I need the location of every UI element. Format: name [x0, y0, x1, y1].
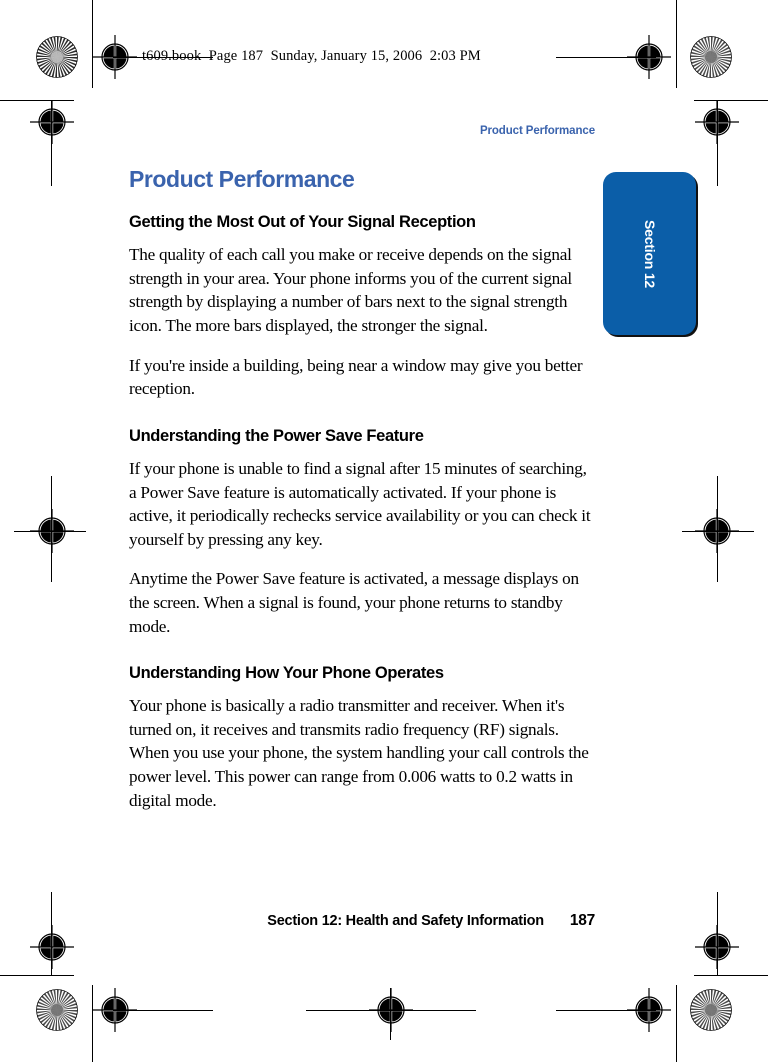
trim-line-vertical-bottom-center	[390, 988, 391, 1040]
starburst-target-top-right	[690, 36, 732, 78]
starburst-target-top-left	[36, 36, 78, 78]
page-title: Product Performance	[129, 167, 595, 191]
paragraph: If you're inside a building, being near …	[129, 354, 595, 401]
registration-mark-bottom-right	[627, 988, 671, 1032]
registration-mark-bottom-center	[369, 988, 413, 1032]
paragraph: If your phone is unable to find a signal…	[129, 457, 595, 551]
page-content: Product Performance Product Performance …	[129, 125, 595, 812]
spacer	[129, 417, 595, 427]
trim-line-vertical-right-upper	[717, 100, 718, 186]
trim-line-horizontal-bottom-left	[113, 1010, 213, 1011]
registration-mark-left-lower	[30, 925, 74, 969]
trim-line-horizontal-left-lower	[0, 975, 74, 976]
starburst-target-bottom-right	[690, 989, 732, 1031]
page-footer: Section 12: Health and Safety Informatio…	[129, 912, 595, 930]
section-heading-phone-operates: Understanding How Your Phone Operates	[129, 664, 595, 682]
paragraph: Your phone is basically a radio transmit…	[129, 694, 595, 812]
registration-mark-top-left	[93, 35, 137, 79]
trim-line-vertical-left-middle	[51, 476, 52, 582]
trim-line-horizontal-right-upper	[694, 100, 768, 101]
registration-mark-left-middle	[30, 509, 74, 553]
page-stamp: t609.book Page 187 Sunday, January 15, 2…	[142, 48, 481, 65]
trim-line-vertical-bottom-right	[676, 985, 677, 1062]
trim-line-vertical-right-lower	[717, 892, 718, 976]
footer-section-title: Section 12: Health and Safety Informatio…	[267, 913, 544, 929]
footer-page-number: 187	[570, 912, 595, 930]
trim-line-vertical-top-right	[676, 0, 677, 88]
trim-line-vertical-bottom-left	[92, 985, 93, 1062]
registration-mark-right-lower	[695, 925, 739, 969]
trim-line-vertical-left-upper	[51, 100, 52, 186]
registration-mark-bottom-left	[93, 988, 137, 1032]
paragraph: The quality of each call you make or rec…	[129, 243, 595, 337]
trim-line-horizontal-bottom-center	[306, 1010, 476, 1011]
section-heading-power-save: Understanding the Power Save Feature	[129, 427, 595, 445]
trim-line-horizontal-bottom-right	[556, 1010, 656, 1011]
registration-mark-right-middle	[695, 509, 739, 553]
running-header: Product Performance	[129, 125, 595, 137]
section-heading-signal-reception: Getting the Most Out of Your Signal Rece…	[129, 213, 595, 231]
trim-line-vertical-left-lower	[51, 892, 52, 976]
trim-line-horizontal-right-lower	[694, 975, 768, 976]
trim-line-vertical-top-left	[92, 0, 93, 88]
trim-line-horizontal-right-middle	[682, 531, 754, 532]
registration-mark-top-right	[627, 35, 671, 79]
section-tab: Section 12	[603, 172, 696, 335]
spacer	[129, 654, 595, 664]
trim-line-horizontal-top-right	[556, 57, 656, 58]
trim-line-vertical-right-middle	[717, 476, 718, 582]
trim-line-horizontal-left-upper	[0, 100, 74, 101]
paragraph: Anytime the Power Save feature is activa…	[129, 567, 595, 638]
registration-mark-left-upper	[30, 100, 74, 144]
trim-line-horizontal-left-middle	[14, 531, 86, 532]
section-tab-label: Section 12	[642, 219, 658, 287]
starburst-target-bottom-left	[36, 989, 78, 1031]
registration-mark-right-upper	[695, 100, 739, 144]
